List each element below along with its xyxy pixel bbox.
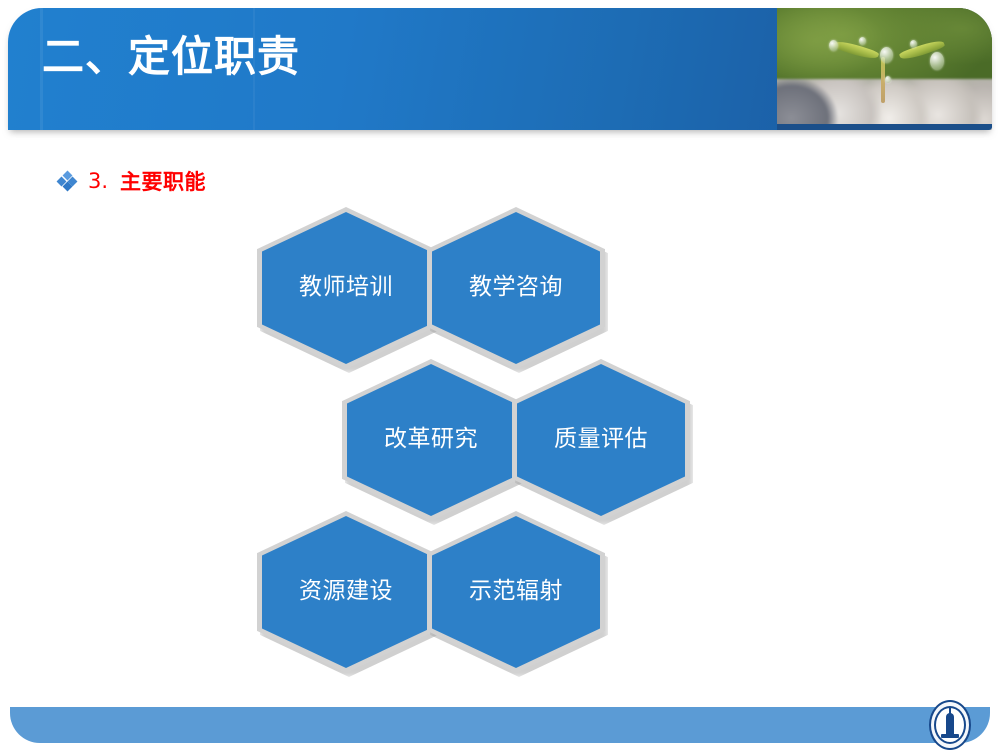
hex-label: 资源建设 (262, 516, 430, 668)
hex-cell-resource-building[interactable]: 资源建设 (262, 516, 430, 668)
photo-dew-drop (859, 37, 866, 45)
hex-cell-demonstration-radiation[interactable]: 示范辐射 (432, 516, 600, 668)
university-seal-logo (929, 700, 971, 750)
hex-label: 教师培训 (262, 212, 430, 364)
hex-cell-reform-research[interactable]: 改革研究 (347, 364, 515, 516)
bullet-index: 3. (88, 169, 108, 193)
seal-base (941, 734, 959, 738)
hex-label: 质量评估 (517, 364, 685, 516)
header-seedling-photo (777, 8, 992, 130)
photo-dew-drop (885, 76, 891, 83)
hex-label: 示范辐射 (432, 516, 600, 668)
diamond-cluster-bullet-icon (58, 172, 76, 190)
hex-label: 改革研究 (347, 364, 515, 516)
photo-bottom-edge (777, 124, 992, 130)
hex-label: 教学咨询 (432, 212, 600, 364)
footer-bar (10, 707, 990, 743)
page-title: 二、定位职责 (42, 36, 300, 78)
hex-cell-quality-evaluation[interactable]: 质量评估 (517, 364, 685, 516)
section-bullet-row: 3. 主要职能 (58, 166, 206, 196)
hex-cell-teacher-training[interactable]: 教师培训 (262, 212, 430, 364)
photo-dew-drop (930, 52, 944, 70)
hex-cell-teaching-consulting[interactable]: 教学咨询 (432, 212, 600, 364)
bullet-label: 主要职能 (120, 166, 206, 196)
photo-dew-drop (829, 40, 838, 51)
slide-canvas: 二、定位职责 3. 主要职能 教师培训教学咨询改革研究质量评估资源建设示范辐射 (0, 0, 1000, 750)
